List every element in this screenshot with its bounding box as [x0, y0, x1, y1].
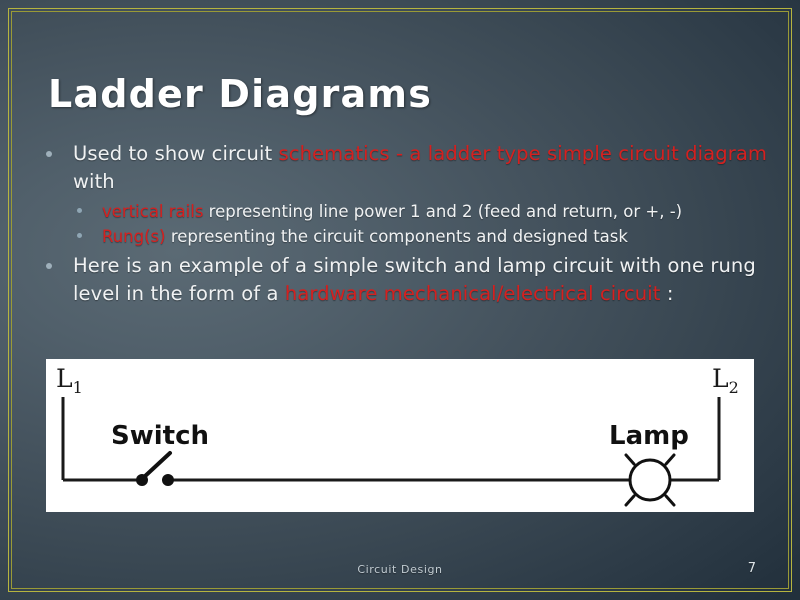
circuit-diagram-image: L1 L2 Switch Lamp [46, 359, 754, 512]
switch-symbol-icon [136, 453, 174, 486]
bullet-item-1: Used to show circuit schematics - a ladd… [40, 140, 770, 196]
sub-bullet-dot-icon [77, 233, 82, 238]
lamp-label: Lamp [609, 421, 689, 451]
rail-right-label: L2 [712, 364, 739, 397]
sub-bullet-dot-icon [77, 208, 82, 213]
rail-left-label: L1 [56, 364, 83, 397]
bullet-1-text-part2: with [73, 170, 115, 193]
lamp-symbol-icon [626, 455, 674, 505]
bullet-1-highlight: schematics - a ladder type simple circui… [279, 142, 767, 165]
bullet-2-highlight: hardware mechanical/electrical circuit [285, 282, 661, 305]
sub-bullet-item-1: vertical rails representing line power 1… [40, 199, 770, 224]
switch-label: Switch [111, 421, 209, 451]
bullet-1-text-part1: Used to show circuit [73, 142, 279, 165]
body-content: Used to show circuit schematics - a ladd… [40, 140, 770, 310]
slide: Ladder Diagrams Used to show circuit sch… [0, 0, 800, 600]
sub-bullet-2-text: representing the circuit components and … [166, 227, 628, 246]
page-number: 7 [748, 561, 756, 576]
sub-bullet-1-highlight: vertical rails [102, 202, 203, 221]
bullet-2-text-part2: : [661, 282, 674, 305]
page-title: Ladder Diagrams [48, 72, 432, 116]
slide-footer: Circuit Design [0, 563, 800, 576]
sub-bullet-list: vertical rails representing line power 1… [40, 199, 770, 249]
sub-bullet-2-highlight: Rung(s) [102, 227, 166, 246]
bullet-item-2: Here is an example of a simple switch an… [40, 252, 770, 308]
sub-bullet-item-2: Rung(s) representing the circuit compone… [40, 224, 770, 249]
bullet-dot-icon [46, 151, 52, 157]
bullet-dot-icon [46, 263, 52, 269]
sub-bullet-1-text: representing line power 1 and 2 (feed an… [203, 202, 682, 221]
